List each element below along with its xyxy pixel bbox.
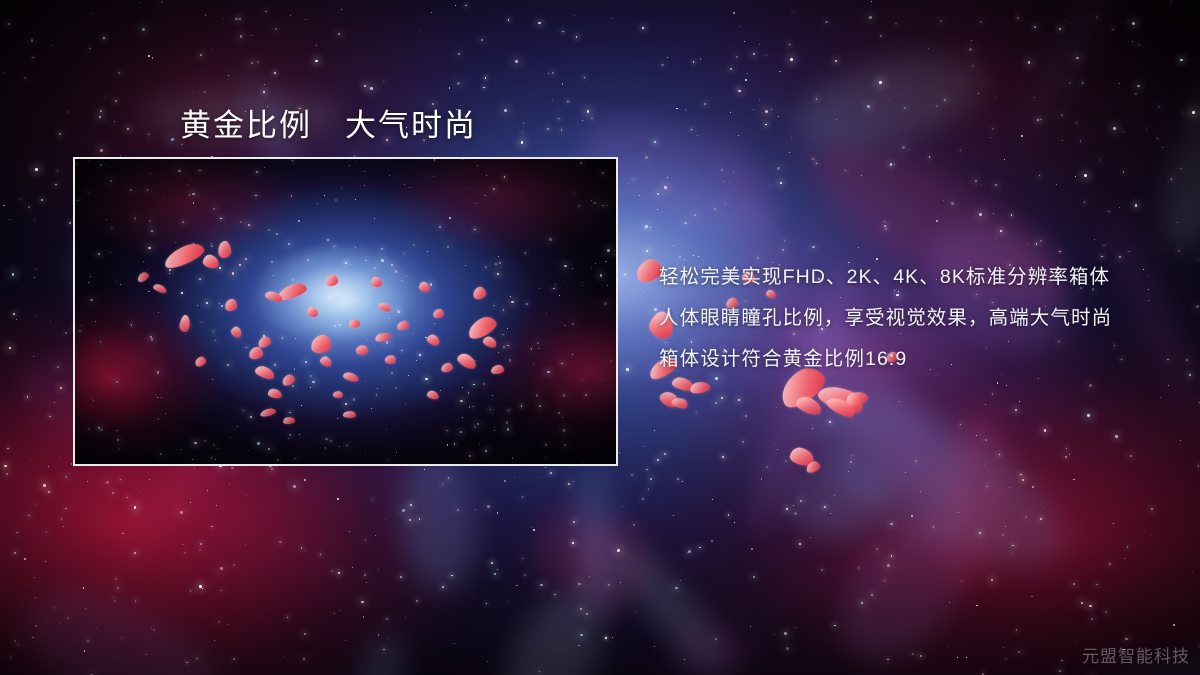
star xyxy=(41,199,43,201)
star xyxy=(271,468,273,470)
star xyxy=(1177,222,1178,223)
star xyxy=(642,27,644,29)
star xyxy=(91,13,92,14)
star xyxy=(693,61,695,63)
watermark: 元盟智能科技 xyxy=(1082,642,1190,667)
star xyxy=(200,543,202,545)
star xyxy=(1151,508,1153,510)
star xyxy=(694,214,696,216)
star xyxy=(337,498,339,500)
star xyxy=(652,244,653,245)
star xyxy=(978,93,979,94)
star xyxy=(1105,611,1107,613)
star xyxy=(766,55,767,56)
star xyxy=(730,68,732,70)
star xyxy=(816,98,818,100)
nebula-wisp xyxy=(2,559,253,675)
star xyxy=(612,637,613,638)
star xyxy=(385,519,386,520)
star xyxy=(545,467,546,468)
star xyxy=(487,505,490,508)
star xyxy=(1039,175,1040,176)
star xyxy=(122,533,123,534)
star xyxy=(1036,243,1037,244)
star xyxy=(1171,178,1173,180)
star xyxy=(1002,534,1004,536)
star xyxy=(876,548,878,550)
star xyxy=(936,220,938,222)
star xyxy=(49,416,51,418)
star xyxy=(871,1,872,2)
star xyxy=(885,228,887,230)
nebula-wisp xyxy=(349,630,411,675)
star xyxy=(1091,618,1093,620)
star xyxy=(1198,465,1200,467)
star xyxy=(275,28,277,30)
star xyxy=(778,116,779,117)
star xyxy=(100,110,102,112)
star xyxy=(1015,409,1017,411)
star xyxy=(986,486,988,488)
star xyxy=(1119,207,1120,208)
star xyxy=(233,564,235,566)
star xyxy=(646,469,648,471)
star xyxy=(1059,28,1061,30)
star xyxy=(428,154,429,155)
star xyxy=(561,129,563,131)
star xyxy=(203,91,205,93)
star xyxy=(35,597,36,598)
star xyxy=(60,387,62,389)
star xyxy=(1115,435,1117,437)
star xyxy=(685,109,687,111)
star xyxy=(431,12,432,13)
star xyxy=(171,138,174,141)
star xyxy=(1005,526,1006,527)
star xyxy=(364,85,366,87)
star xyxy=(24,77,26,79)
star xyxy=(869,16,872,19)
star xyxy=(7,448,9,450)
star xyxy=(69,222,71,224)
nebula-wisp xyxy=(1195,149,1200,334)
star xyxy=(61,518,63,520)
nebula-wisp xyxy=(393,448,482,595)
star xyxy=(587,110,590,113)
star xyxy=(999,454,1001,456)
star xyxy=(991,579,994,582)
star xyxy=(301,547,303,549)
star xyxy=(646,250,648,252)
star xyxy=(32,637,33,638)
star xyxy=(576,36,578,38)
star xyxy=(661,64,663,66)
framed-image[interactable] xyxy=(73,157,618,466)
nebula-wisp xyxy=(571,465,622,616)
star xyxy=(212,49,213,50)
star xyxy=(676,108,678,110)
star xyxy=(700,58,702,60)
star xyxy=(117,587,119,589)
star xyxy=(239,18,241,20)
star xyxy=(791,137,792,138)
star xyxy=(99,116,102,119)
star xyxy=(742,441,744,443)
star xyxy=(378,634,380,636)
star xyxy=(980,21,982,23)
rose-petal xyxy=(816,380,867,418)
star xyxy=(134,506,137,509)
star xyxy=(1034,26,1036,28)
star xyxy=(114,600,116,602)
star xyxy=(657,209,658,210)
star xyxy=(1009,487,1010,488)
star xyxy=(223,18,224,19)
star xyxy=(744,41,745,42)
star xyxy=(1146,128,1148,130)
star xyxy=(1096,16,1098,18)
star xyxy=(825,21,827,23)
star xyxy=(540,584,543,587)
star xyxy=(372,499,374,501)
nebula-wisp xyxy=(815,492,992,675)
star xyxy=(972,65,974,67)
star xyxy=(1073,583,1075,585)
star xyxy=(715,638,717,640)
star xyxy=(34,277,35,278)
star xyxy=(1073,479,1075,481)
star xyxy=(89,48,90,49)
star xyxy=(1022,479,1024,481)
star xyxy=(316,45,317,46)
star xyxy=(574,15,575,16)
star xyxy=(711,540,713,542)
star xyxy=(338,572,340,574)
star xyxy=(1123,171,1125,173)
star xyxy=(1130,455,1132,457)
star xyxy=(985,404,986,405)
nebula-wisp xyxy=(787,36,996,167)
star xyxy=(631,474,633,476)
star xyxy=(786,647,789,650)
star xyxy=(14,640,16,642)
star xyxy=(871,594,873,596)
star xyxy=(721,397,723,399)
star xyxy=(199,585,202,588)
star xyxy=(139,492,141,494)
star xyxy=(1119,83,1120,84)
star xyxy=(884,225,886,227)
star xyxy=(387,638,388,639)
star xyxy=(714,208,716,210)
star xyxy=(812,428,813,429)
star xyxy=(810,537,811,538)
star xyxy=(1020,474,1022,476)
star xyxy=(193,92,194,93)
star xyxy=(36,269,37,270)
star xyxy=(848,471,849,472)
star xyxy=(639,195,640,196)
star xyxy=(83,587,85,589)
star xyxy=(339,610,340,611)
star xyxy=(345,640,346,641)
star xyxy=(127,497,129,499)
star xyxy=(6,473,8,475)
star xyxy=(884,221,885,222)
star xyxy=(1059,251,1060,252)
star xyxy=(341,9,342,10)
star xyxy=(402,509,405,512)
star xyxy=(305,19,306,20)
star xyxy=(35,625,37,627)
star xyxy=(1182,113,1184,115)
star xyxy=(780,182,782,184)
star xyxy=(84,650,86,652)
star xyxy=(1076,57,1079,60)
star xyxy=(1065,20,1066,21)
star xyxy=(1006,385,1007,386)
star xyxy=(1069,454,1070,455)
star xyxy=(57,170,59,172)
star xyxy=(618,278,620,280)
star xyxy=(1011,553,1013,555)
star xyxy=(1192,571,1193,572)
star xyxy=(105,97,106,98)
star xyxy=(1059,670,1061,672)
star xyxy=(654,646,655,647)
star xyxy=(624,274,626,276)
nebula-wisp xyxy=(522,493,622,600)
star xyxy=(573,521,575,523)
star xyxy=(845,170,846,171)
star xyxy=(830,513,831,514)
star xyxy=(504,109,507,112)
star xyxy=(996,238,997,239)
star xyxy=(1138,44,1140,46)
star xyxy=(190,590,192,592)
star xyxy=(366,582,367,583)
star xyxy=(34,220,36,222)
star xyxy=(1113,523,1114,524)
star xyxy=(186,662,188,664)
star xyxy=(761,478,763,480)
star xyxy=(674,395,675,396)
star xyxy=(161,1,163,3)
star xyxy=(1096,584,1098,586)
star xyxy=(567,101,568,102)
star xyxy=(552,72,554,74)
star xyxy=(304,479,306,481)
star xyxy=(245,544,246,545)
star xyxy=(481,39,483,41)
star xyxy=(1135,93,1137,95)
star xyxy=(612,18,613,19)
star xyxy=(34,577,35,578)
star xyxy=(786,508,788,510)
star xyxy=(1084,201,1086,203)
star xyxy=(960,150,961,151)
star xyxy=(784,632,787,635)
star xyxy=(508,601,510,603)
star xyxy=(180,511,183,514)
star xyxy=(334,613,335,614)
star xyxy=(52,45,53,46)
star xyxy=(57,366,59,368)
star xyxy=(712,499,713,500)
star xyxy=(1160,397,1161,398)
star xyxy=(1032,486,1034,488)
star xyxy=(796,384,797,385)
star xyxy=(229,484,230,485)
star xyxy=(684,659,685,660)
star xyxy=(779,71,781,73)
nebula-wisp xyxy=(1010,0,1159,146)
star xyxy=(303,658,305,660)
star xyxy=(774,443,775,444)
star xyxy=(976,605,978,607)
star xyxy=(190,502,191,503)
star xyxy=(1044,429,1047,432)
star xyxy=(283,656,284,657)
star xyxy=(54,607,56,609)
star xyxy=(1087,414,1090,417)
star xyxy=(800,500,802,502)
star xyxy=(508,19,510,21)
star xyxy=(644,446,645,447)
star xyxy=(113,597,114,598)
star xyxy=(736,56,738,58)
star xyxy=(852,455,853,456)
star xyxy=(228,75,229,76)
star xyxy=(730,112,731,113)
star xyxy=(265,11,267,13)
star xyxy=(782,249,784,251)
star xyxy=(766,466,768,468)
star xyxy=(1135,204,1137,206)
star xyxy=(46,531,48,533)
star xyxy=(1076,122,1078,124)
star xyxy=(538,22,540,24)
nebula-wisp xyxy=(667,621,753,675)
star xyxy=(1134,93,1135,94)
star xyxy=(992,128,994,130)
star xyxy=(948,646,949,647)
body-line-1: 轻松完美实现FHD、2K、4K、8K标准分辨率箱体 xyxy=(659,257,1179,298)
star xyxy=(650,478,652,480)
star xyxy=(890,163,892,165)
star xyxy=(60,623,61,624)
star xyxy=(1170,1,1172,3)
star xyxy=(184,552,186,554)
star xyxy=(664,186,667,189)
star xyxy=(48,491,50,493)
star xyxy=(909,149,910,150)
star xyxy=(729,182,730,183)
star xyxy=(677,478,679,480)
star xyxy=(370,87,373,90)
star xyxy=(1005,658,1007,660)
star xyxy=(1089,605,1091,607)
star xyxy=(911,515,913,517)
star xyxy=(115,100,117,102)
star xyxy=(20,199,22,201)
star xyxy=(635,611,636,612)
star xyxy=(221,590,223,592)
star xyxy=(836,119,837,120)
star xyxy=(539,671,541,673)
star xyxy=(890,523,892,525)
star xyxy=(645,156,647,158)
star xyxy=(26,585,27,586)
star xyxy=(448,477,450,479)
star xyxy=(1034,97,1035,98)
star xyxy=(1180,440,1181,441)
star xyxy=(214,640,215,641)
star xyxy=(1066,448,1068,450)
star xyxy=(697,135,698,136)
star xyxy=(364,574,366,576)
star xyxy=(45,561,46,562)
star xyxy=(27,396,29,398)
star xyxy=(880,35,882,37)
star xyxy=(777,167,780,170)
star xyxy=(1044,609,1045,610)
star xyxy=(28,515,30,517)
star xyxy=(834,625,836,627)
star xyxy=(979,532,981,534)
star xyxy=(650,227,651,228)
star xyxy=(1198,259,1200,261)
star xyxy=(789,152,790,153)
star xyxy=(777,449,778,450)
star xyxy=(1082,82,1084,84)
star xyxy=(550,472,552,474)
star xyxy=(774,634,775,635)
star xyxy=(1158,106,1160,108)
star xyxy=(693,255,694,256)
star xyxy=(949,602,950,603)
star xyxy=(582,120,583,121)
star xyxy=(405,617,406,618)
star xyxy=(586,613,588,615)
star xyxy=(55,184,57,186)
star xyxy=(115,578,117,580)
star xyxy=(957,657,958,658)
star xyxy=(867,105,870,108)
star xyxy=(400,576,402,578)
star xyxy=(68,111,69,112)
star xyxy=(620,582,621,583)
star xyxy=(1112,29,1113,30)
star xyxy=(1151,535,1152,536)
star xyxy=(257,61,259,63)
star xyxy=(320,554,321,555)
star xyxy=(1037,119,1039,121)
star xyxy=(87,481,88,482)
star xyxy=(558,109,559,110)
star xyxy=(753,109,754,110)
star xyxy=(648,488,650,490)
star xyxy=(65,476,67,478)
star xyxy=(202,588,203,589)
star xyxy=(733,172,734,173)
star xyxy=(352,567,353,568)
rose-petal xyxy=(689,380,711,396)
star xyxy=(578,583,581,586)
star xyxy=(1056,184,1057,185)
star xyxy=(793,11,795,13)
star xyxy=(1122,587,1123,588)
